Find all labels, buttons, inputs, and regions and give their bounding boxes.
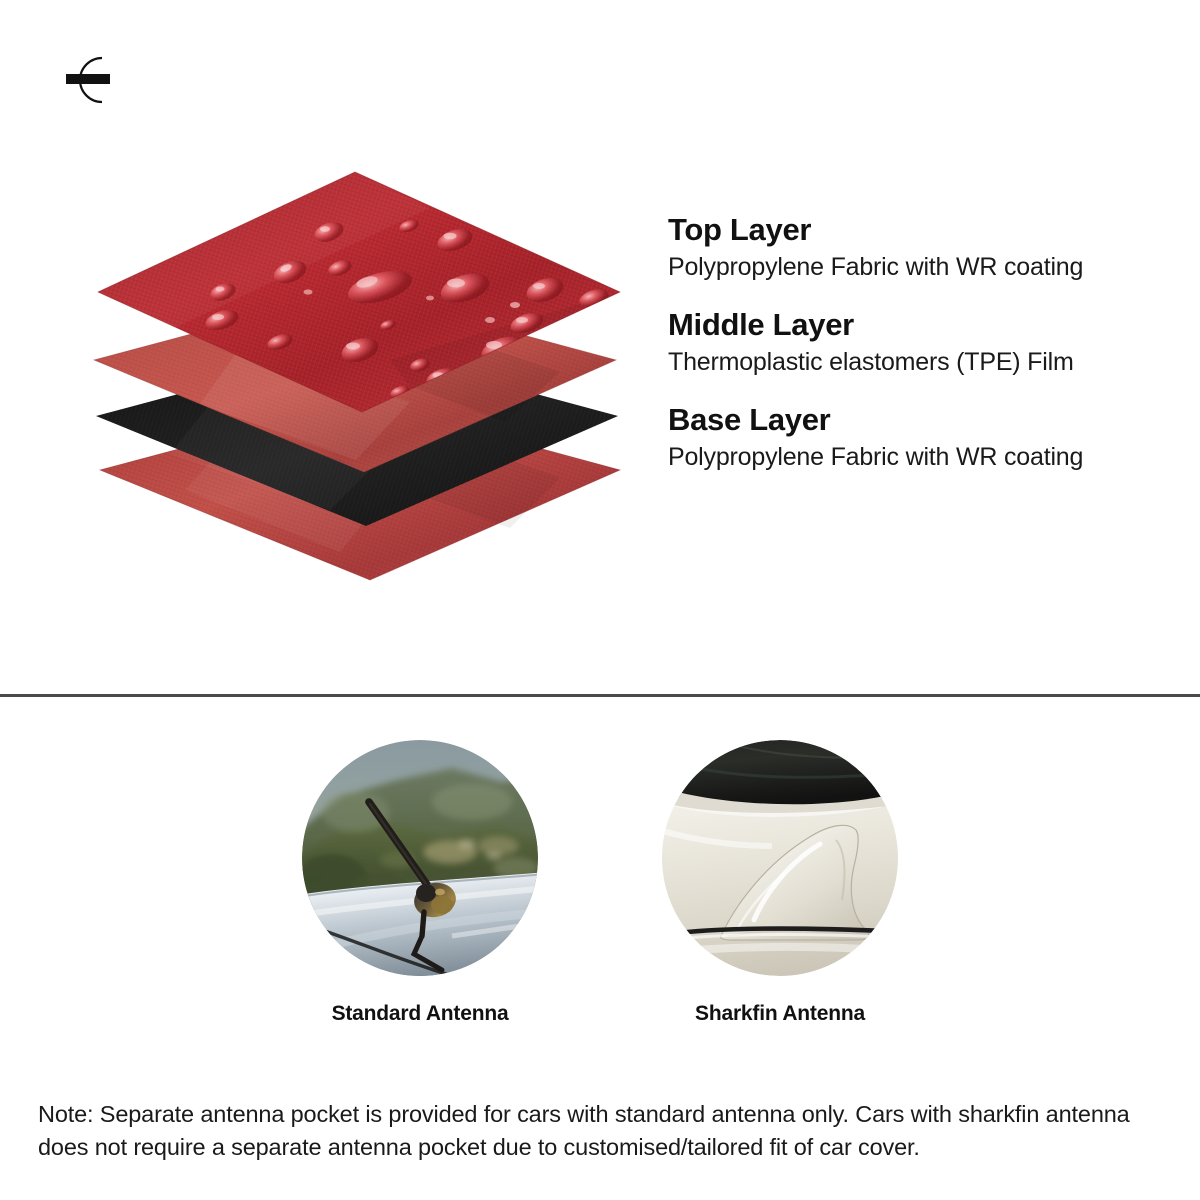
brand-logo[interactable] bbox=[62, 52, 124, 108]
antenna-types-section: Standard Antenna bbox=[0, 740, 1200, 1060]
antenna-caption-standard: Standard Antenna bbox=[332, 1002, 509, 1026]
fabric-layer-stack-illustration bbox=[90, 160, 635, 600]
layer-item-top: Top Layer Polypropylene Fabric with WR c… bbox=[668, 212, 1168, 283]
section-divider bbox=[0, 694, 1200, 697]
layer-title-base: Base Layer bbox=[668, 402, 1168, 438]
sharkfin-antenna-photo-icon bbox=[662, 740, 898, 976]
fabric-layers-section: Top Layer Polypropylene Fabric with WR c… bbox=[0, 150, 1200, 610]
layer-description-middle: Thermoplastic elastomers (TPE) Film bbox=[668, 346, 1168, 379]
standard-antenna-photo bbox=[302, 740, 538, 976]
layer-item-middle: Middle Layer Thermoplastic elastomers (T… bbox=[668, 307, 1168, 378]
layer-title-top: Top Layer bbox=[668, 212, 1168, 248]
fabric-layer-stack-icon bbox=[90, 160, 635, 600]
antenna-item-standard: Standard Antenna bbox=[300, 740, 540, 1026]
antenna-item-sharkfin: Sharkfin Antenna bbox=[660, 740, 900, 1026]
layer-item-base: Base Layer Polypropylene Fabric with WR … bbox=[668, 402, 1168, 473]
layer-title-middle: Middle Layer bbox=[668, 307, 1168, 343]
antenna-pocket-note: Note: Separate antenna pocket is provide… bbox=[38, 1098, 1173, 1165]
antenna-caption-sharkfin: Sharkfin Antenna bbox=[695, 1002, 865, 1026]
layer-description-base: Polypropylene Fabric with WR coating bbox=[668, 441, 1168, 474]
circle-arrow-logo-icon bbox=[62, 52, 124, 108]
sharkfin-antenna-photo bbox=[662, 740, 898, 976]
layer-label-list: Top Layer Polypropylene Fabric with WR c… bbox=[668, 212, 1168, 473]
standard-mast-antenna-photo-icon bbox=[302, 740, 538, 976]
layer-description-top: Polypropylene Fabric with WR coating bbox=[668, 251, 1168, 284]
antenna-type-list: Standard Antenna bbox=[300, 740, 900, 1026]
